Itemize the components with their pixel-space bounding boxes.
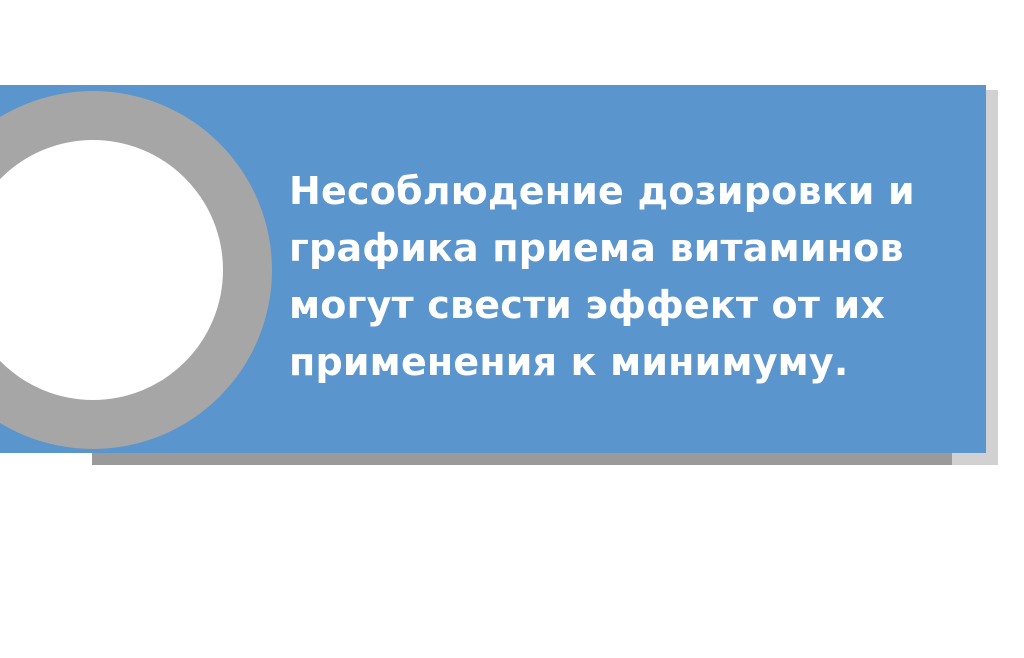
slide-canvas: Несоблюдение дозировки и графика приема … [0, 0, 1024, 658]
headline-line-3: могут свести эффект от их [289, 277, 929, 334]
headline-line-1: Несоблюдение дозировки и [289, 163, 929, 220]
banner-drop-shadow-bar [92, 452, 952, 465]
headline-text-block: Несоблюдение дозировки и графика приема … [289, 163, 929, 391]
headline-line-4: применения к минимуму. [289, 334, 929, 391]
headline-line-2: графика приема витаминов [289, 220, 929, 277]
